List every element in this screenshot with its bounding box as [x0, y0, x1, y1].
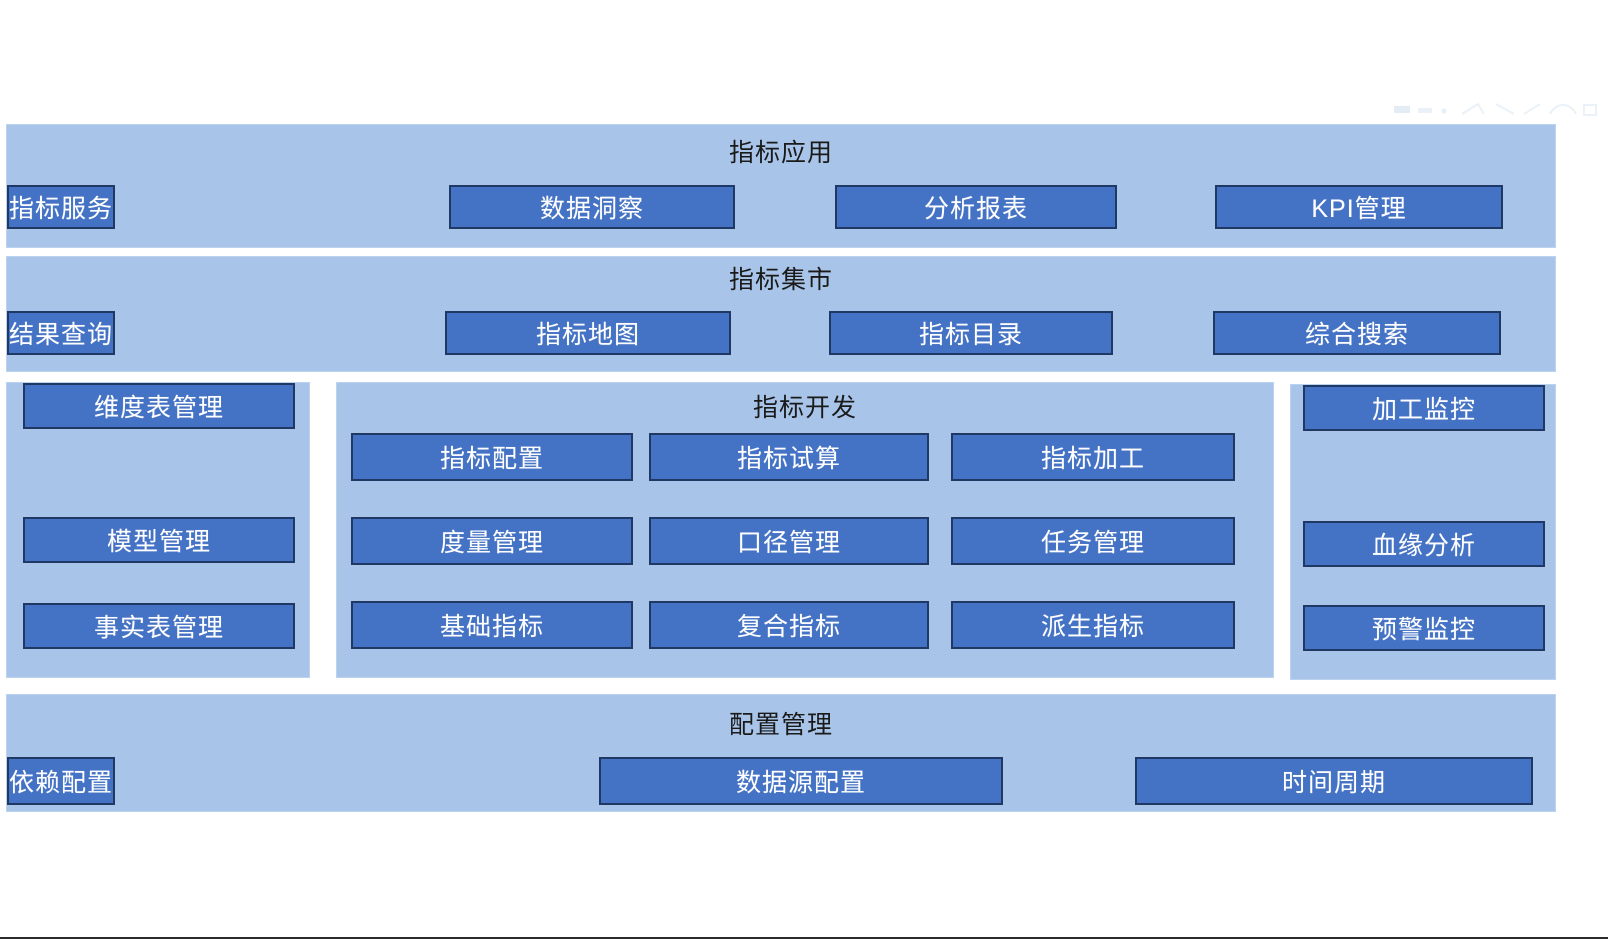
button-result-query[interactable]: 结果查询: [7, 311, 115, 355]
button-composite-metric[interactable]: 复合指标: [649, 601, 929, 649]
button-data-insight[interactable]: 数据洞察: [449, 185, 735, 229]
button-metric-configuration[interactable]: 指标配置: [351, 433, 633, 481]
layer-title-metric-application: 指标应用: [7, 138, 1555, 168]
button-metric-processing[interactable]: 指标加工: [951, 433, 1235, 481]
button-model-management[interactable]: 模型管理: [23, 517, 295, 563]
button-basic-metric[interactable]: 基础指标: [351, 601, 633, 649]
architecture-diagram-canvas: 指标应用 数据洞察 分析报表 KPI管理 指标服务 指标集市 指标地图 指标目录…: [0, 0, 1608, 940]
layer-metric-model: 指标模型 模型管理 事实表管理 维度表管理: [6, 382, 310, 678]
button-datasource-configuration[interactable]: 数据源配置: [599, 757, 1003, 805]
button-fact-table-management[interactable]: 事实表管理: [23, 603, 295, 649]
layer-metric-mart: 指标集市 指标地图 指标目录 综合搜索 结果查询: [6, 256, 1556, 372]
layer-configuration-management: 配置管理 数据源配置 时间周期 依赖配置: [6, 694, 1556, 812]
layer-title-metric-mart: 指标集市: [7, 265, 1555, 295]
button-dimension-table-management[interactable]: 维度表管理: [23, 383, 295, 429]
button-metric-service[interactable]: 指标服务: [7, 185, 115, 229]
button-dependency-configuration[interactable]: 依赖配置: [7, 757, 115, 805]
button-derived-metric[interactable]: 派生指标: [951, 601, 1235, 649]
layer-metric-monitoring: 指标监控 血缘分析 预警监控 加工监控: [1290, 384, 1556, 680]
watermark-artifact: [1392, 100, 1602, 126]
button-time-period[interactable]: 时间周期: [1135, 757, 1533, 805]
layer-title-metric-development: 指标开发: [337, 393, 1273, 423]
layer-metric-application: 指标应用 数据洞察 分析报表 KPI管理 指标服务: [6, 124, 1556, 248]
button-caliber-management[interactable]: 口径管理: [649, 517, 929, 565]
button-comprehensive-search[interactable]: 综合搜索: [1213, 311, 1501, 355]
button-alert-monitoring[interactable]: 预警监控: [1303, 605, 1545, 651]
button-task-management[interactable]: 任务管理: [951, 517, 1235, 565]
button-metric-map[interactable]: 指标地图: [445, 311, 731, 355]
layer-metric-development: 指标开发 指标配置 指标试算 指标加工 度量管理 口径管理 任务管理 基础指标 …: [336, 382, 1274, 678]
button-analysis-report[interactable]: 分析报表: [835, 185, 1117, 229]
button-metric-catalog[interactable]: 指标目录: [829, 311, 1113, 355]
button-processing-monitoring[interactable]: 加工监控: [1303, 385, 1545, 431]
button-metric-trial-calculation[interactable]: 指标试算: [649, 433, 929, 481]
bottom-divider: [0, 937, 1608, 939]
layer-title-configuration-management: 配置管理: [7, 710, 1555, 740]
button-lineage-analysis[interactable]: 血缘分析: [1303, 521, 1545, 567]
button-kpi-management[interactable]: KPI管理: [1215, 185, 1503, 229]
button-measure-management[interactable]: 度量管理: [351, 517, 633, 565]
